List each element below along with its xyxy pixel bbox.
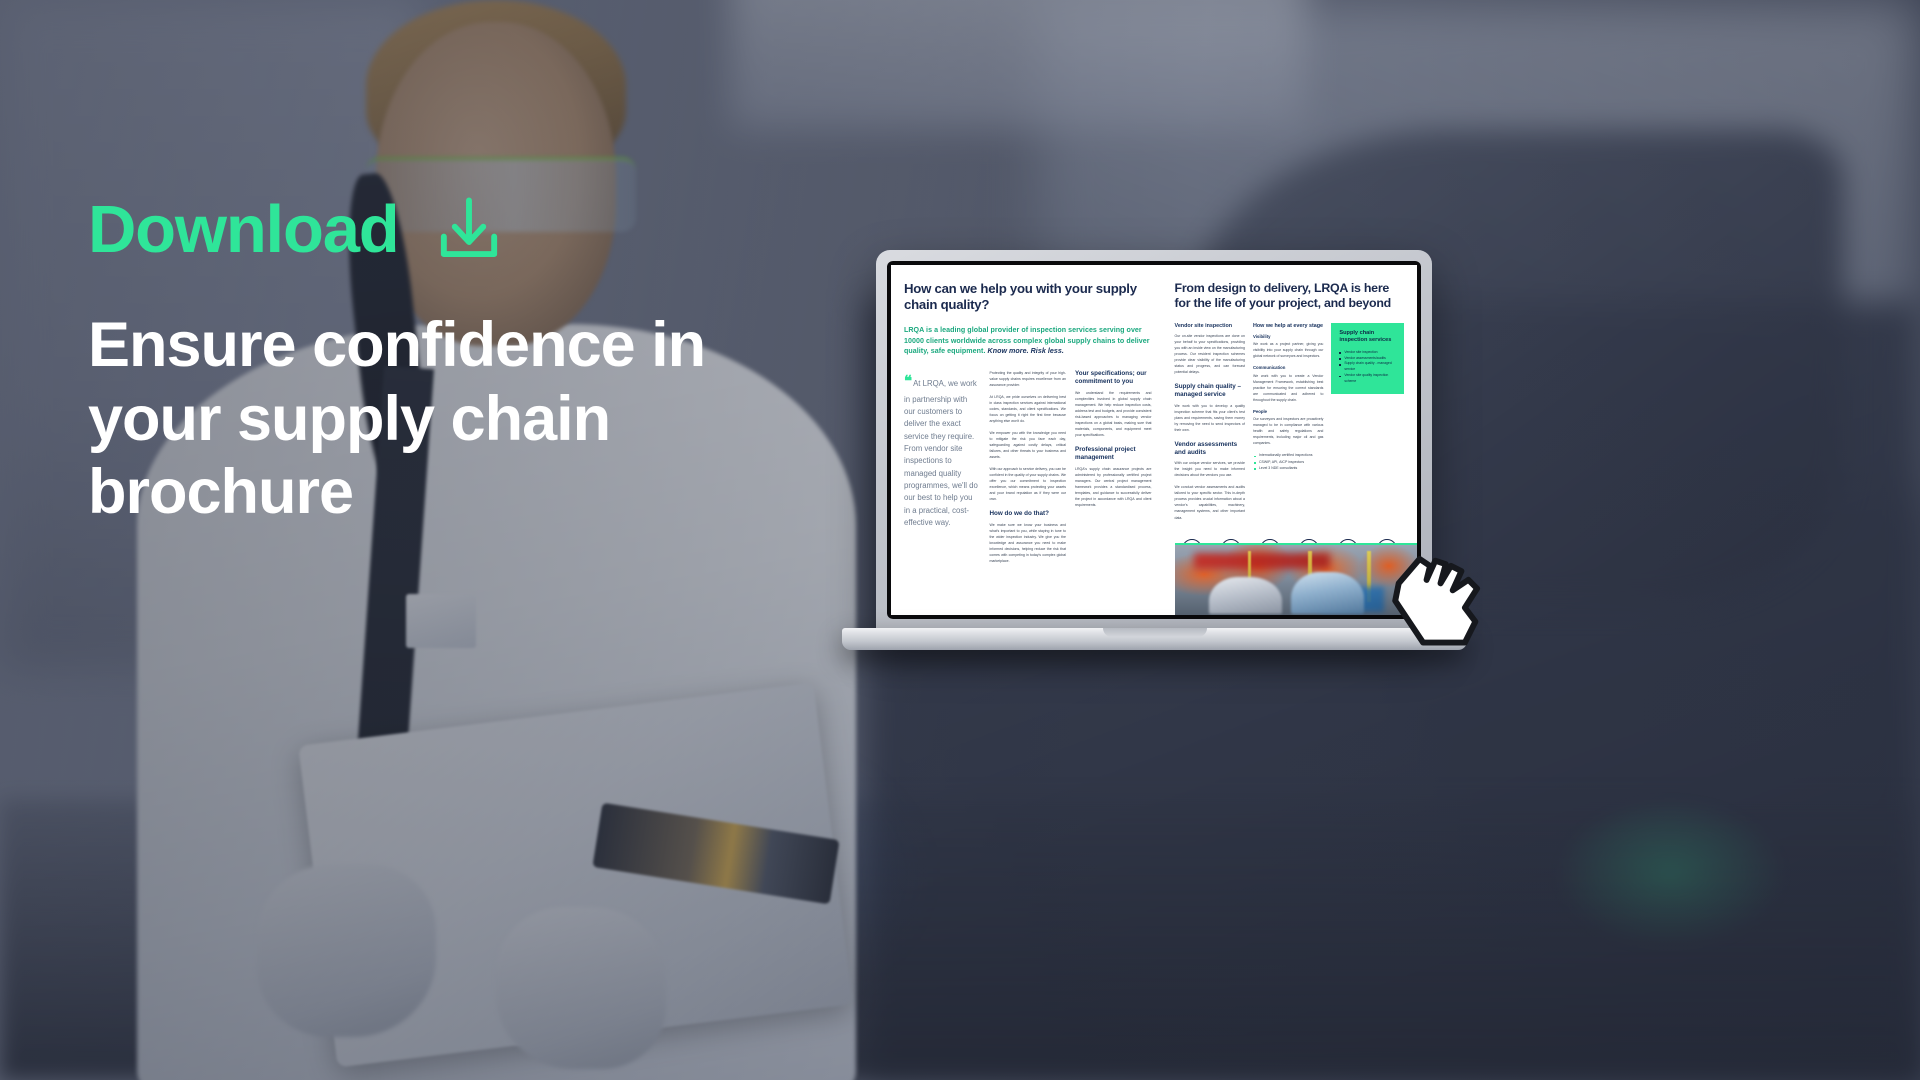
download-arrow-icon[interactable] xyxy=(434,197,504,263)
stage-text: Our surveyors and inspectors are proacti… xyxy=(1253,416,1323,446)
laptop-mockup: How can we help you with your supply cha… xyxy=(876,250,1496,650)
list-item: Level 3 NDE consultants xyxy=(1253,465,1323,471)
brochure-subheading: How do we do that? xyxy=(990,510,1067,518)
brochure-right-columns: Vendor site inspection Our on-site vendo… xyxy=(1175,323,1404,527)
brochure-left-col-body: Protecting the quality and integrity of … xyxy=(990,370,1067,570)
body-paragraph: We conduct vendor assessments and audits… xyxy=(1175,484,1245,520)
stage-title: People xyxy=(1253,409,1323,414)
stage-title: Communication xyxy=(1253,365,1323,370)
brochure-subheading: How we help at every stage xyxy=(1253,323,1323,329)
brochure-left-col-quote: ❝At LRQA, we work in partnership with ou… xyxy=(904,370,981,570)
stage-title: Visibility xyxy=(1253,334,1323,339)
laptop-screen[interactable]: How can we help you with your supply cha… xyxy=(891,265,1417,615)
brochure-left-intro-emphasis: Know more. Risk less. xyxy=(988,347,1064,355)
body-paragraph: We make sure we know your business and w… xyxy=(990,522,1067,564)
factory-photo-car-body-1 xyxy=(1209,577,1282,613)
factory-photo-car-body-2 xyxy=(1291,572,1364,614)
body-paragraph: Protecting the quality and integrity of … xyxy=(990,370,1067,388)
body-paragraph: With our unique vendor services, we prov… xyxy=(1175,460,1245,478)
brochure-right-col-card: Supply chain inspection services Vendor … xyxy=(1331,323,1404,527)
brochure-left-col-specs: Your specifications; our commitment to y… xyxy=(1075,370,1152,570)
laptop-notch xyxy=(1103,628,1207,637)
body-paragraph: At LRQA, we pride ourselves on deliverin… xyxy=(990,394,1067,424)
pull-quote: ❝At LRQA, we work in partnership with ou… xyxy=(904,370,981,529)
hand-pointer-cursor[interactable] xyxy=(1388,545,1500,653)
brochure-right-col-stages: How we help at every stage Visibility We… xyxy=(1253,323,1323,527)
brochure-right-col-services: Vendor site inspection Our on-site vendo… xyxy=(1175,323,1245,527)
brochure-subheading: Professional project management xyxy=(1075,446,1152,462)
stage-text: We work with you to create a Vendor Mana… xyxy=(1253,373,1323,403)
hero-copy-block: Download Ensure confidence in your suppl… xyxy=(88,196,728,530)
brochure-left-heading: How can we help you with your supply cha… xyxy=(904,281,1152,314)
brochure-right-heading: From design to delivery, LRQA is here fo… xyxy=(1175,281,1404,312)
laptop-bezel: How can we help you with your supply cha… xyxy=(887,261,1421,619)
brochure-page-left: How can we help you with your supply cha… xyxy=(891,265,1165,615)
card-list: Vendor site inspection Vendor assessment… xyxy=(1339,350,1397,385)
card-title: Supply chain inspection services xyxy=(1339,330,1397,345)
page-title: Ensure confidence in your supply chain b… xyxy=(88,309,728,530)
brochure-page-right: From design to delivery, LRQA is here fo… xyxy=(1165,265,1417,615)
laptop-base xyxy=(842,628,1467,650)
body-paragraph: We work with you to develop a quality in… xyxy=(1175,403,1245,433)
brochure-left-columns: ❝At LRQA, we work in partnership with ou… xyxy=(904,370,1152,570)
body-paragraph: With our approach to service delivery, y… xyxy=(990,466,1067,502)
body-paragraph: We understand the requirements and compl… xyxy=(1075,390,1152,438)
factory-assembly-photo xyxy=(1175,543,1417,615)
download-row[interactable]: Download xyxy=(88,196,728,263)
supply-chain-services-card: Supply chain inspection services Vendor … xyxy=(1331,323,1404,394)
credentials-list: Internationally certified inspections CS… xyxy=(1253,452,1323,471)
body-paragraph: LRQA's supply chain assurance projects a… xyxy=(1075,466,1152,508)
quote-mark-icon: ❝ xyxy=(904,373,911,390)
brochure-subheading: Vendor assessments and audits xyxy=(1175,441,1245,457)
body-paragraph: Our on-site vendor inspections are done … xyxy=(1175,333,1245,375)
brochure-subheading: Supply chain quality – managed service xyxy=(1175,383,1245,399)
laptop-lid: How can we help you with your supply cha… xyxy=(876,250,1432,635)
stage-text: We work as a project partner, giving you… xyxy=(1253,341,1323,359)
brochure-subheading: Your specifications; our commitment to y… xyxy=(1075,370,1152,386)
list-item: Supply chain quality - managed service xyxy=(1339,361,1397,373)
brochure-subheading: Vendor site inspection xyxy=(1175,323,1245,329)
brochure-left-intro: LRQA is a leading global provider of ins… xyxy=(904,325,1152,357)
download-label[interactable]: Download xyxy=(88,196,398,263)
list-item: Vendor site quality inspection scheme xyxy=(1339,373,1397,385)
body-paragraph: We empower you with the knowledge you ne… xyxy=(990,430,1067,460)
pull-quote-text: At LRQA, we work in partnership with our… xyxy=(904,379,978,527)
